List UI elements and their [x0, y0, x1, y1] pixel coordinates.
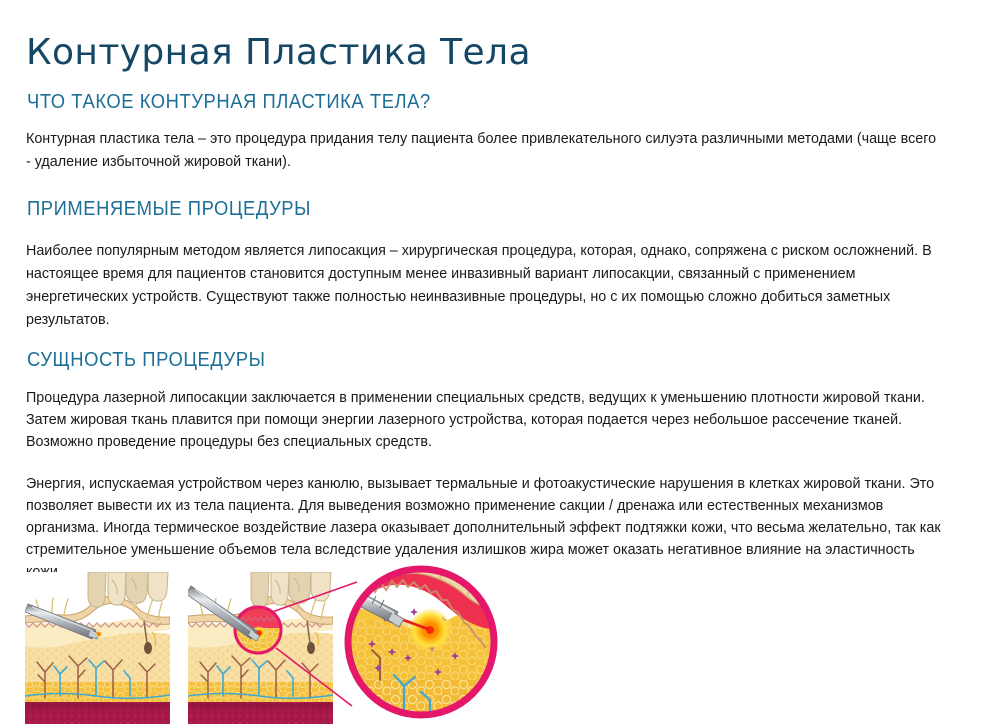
paragraph-essence: Процедура лазерной липосакции заключаетс… — [26, 387, 943, 453]
panel-cannula-insertion — [25, 572, 170, 724]
section-heading-what-is: ЧТО ТАКОЕ КОНТУРНАЯ ПЛАСТИКА ТЕЛА? — [27, 90, 431, 114]
page-title: Контурная Пластика Тела — [26, 30, 531, 76]
paragraph-methods: Наиболее популярным методом является лип… — [26, 239, 943, 331]
liposuction-diagram — [0, 560, 986, 725]
panel-laser-activation — [186, 572, 333, 724]
paragraph-intro: Контурная пластика тела – это процедура … — [26, 127, 943, 173]
section-heading-essence: СУЩНОСТЬ ПРОЦЕДУРЫ — [27, 348, 265, 372]
liposuction-diagram-svg — [0, 560, 986, 725]
article-page: Контурная Пластика Тела ЧТО ТАКОЕ КОНТУР… — [0, 0, 986, 725]
section-heading-procedures: ПРИМЕНЯЕМЫЕ ПРОЦЕДУРЫ — [27, 197, 311, 221]
panel-magnified-detail — [346, 560, 494, 715]
